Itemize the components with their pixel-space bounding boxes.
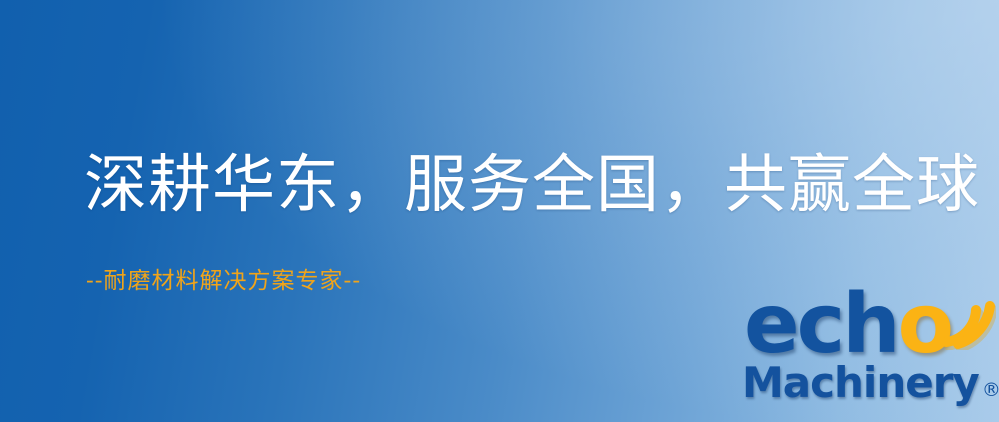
banner-headline: 深耕华东，服务全国，共赢全球 [84,152,980,218]
echo-signal-waves-icon [932,288,996,350]
logo-tagline-row: Machinery ® [742,362,999,404]
registered-trademark-mark: ® [982,381,999,400]
promo-banner: 深耕华东，服务全国，共赢全球 --耐磨材料解决方案专家-- echo Machi… [0,0,999,422]
logo-echo-text: echo [744,284,951,366]
banner-subtitle: --耐磨材料解决方案专家-- [86,268,361,296]
logo-tagline: Machinery [742,362,979,404]
company-logo[interactable]: echo Machinery ® [742,296,994,418]
